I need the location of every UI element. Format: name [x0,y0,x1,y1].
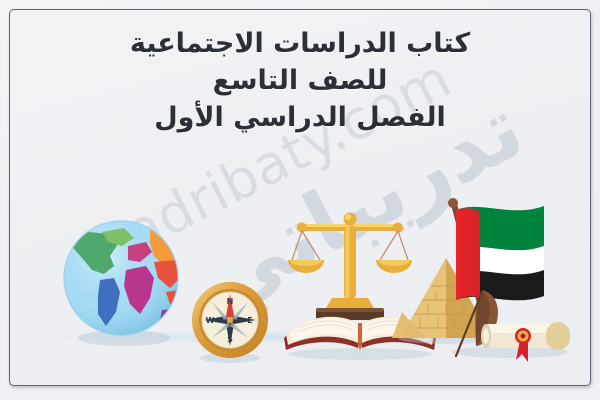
compass-icon: N S E W [186,276,274,364]
illustration-group: N S E W [0,190,600,390]
svg-text:W: W [206,316,215,325]
svg-text:E: E [247,316,252,325]
globe-icon [58,218,184,344]
book-cover-canvas: تدريباتي tadribaty.com كتاب الدراسات الا… [0,0,600,400]
sealed-scroll-icon [436,286,576,364]
svg-text:S: S [227,335,233,344]
title-line-1: كتاب الدراسات الاجتماعية [0,28,600,60]
page-title: كتاب الدراسات الاجتماعية للصف التاسع الف… [0,28,600,134]
title-line-2: للصف التاسع [0,65,600,97]
title-line-3: الفصل الدراسي الأول [0,102,600,134]
svg-text:N: N [227,297,234,306]
